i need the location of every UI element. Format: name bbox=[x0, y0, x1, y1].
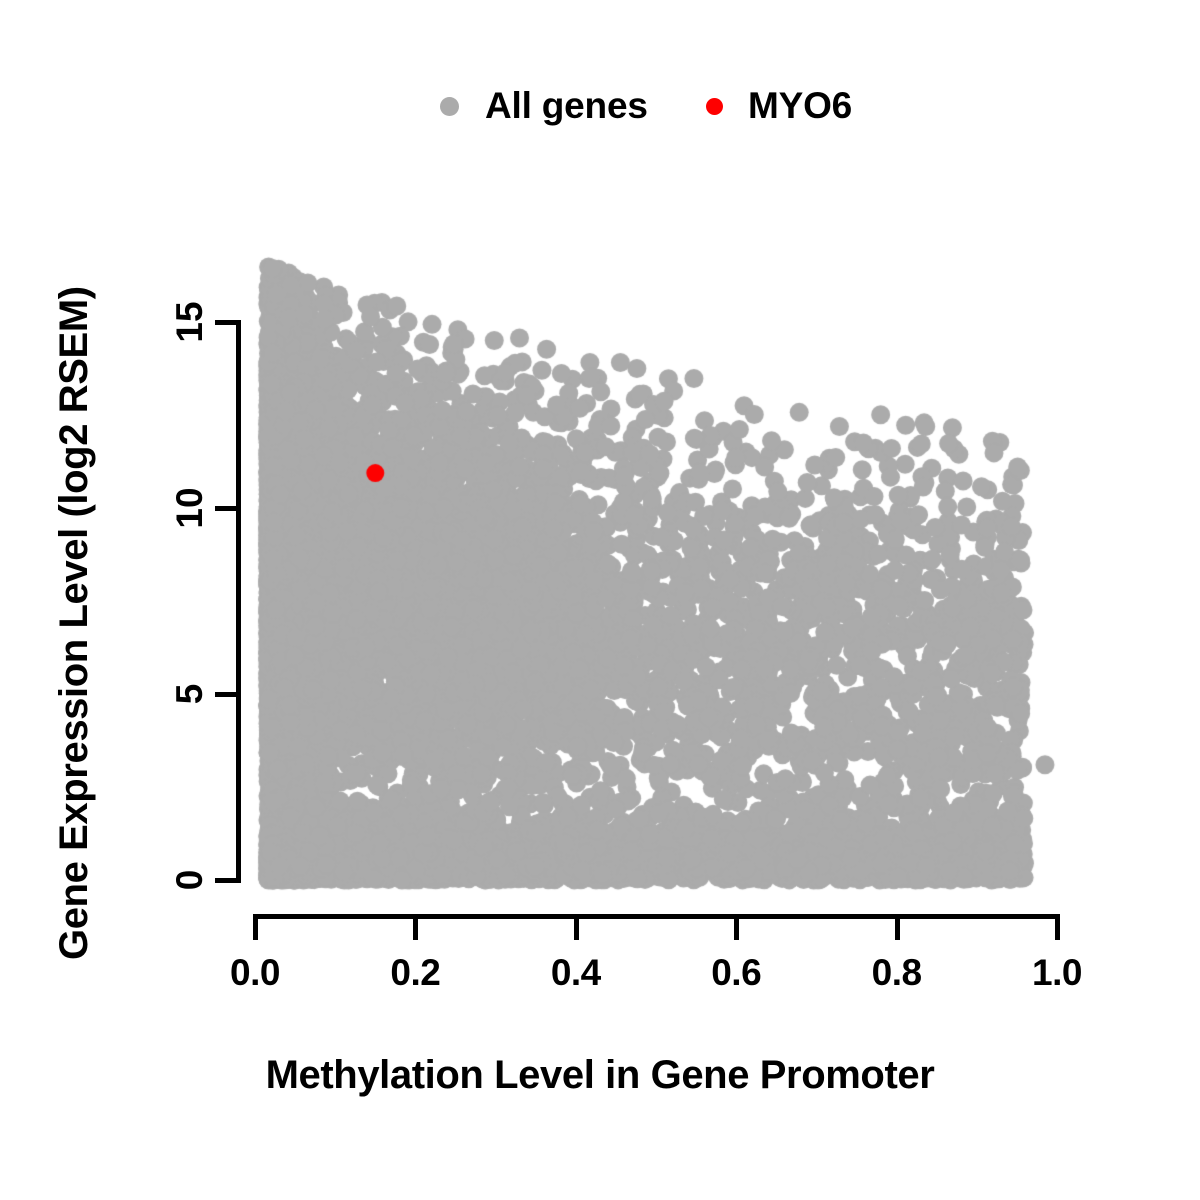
x-axis-tick-label: 0.0 bbox=[185, 952, 325, 994]
x-axis-tick bbox=[1055, 914, 1060, 940]
x-axis-tick-label: 1.0 bbox=[987, 952, 1127, 994]
scatter-plot-figure: All genes MYO6 0510150.00.20.40.60.81.0 … bbox=[0, 0, 1200, 1200]
x-axis-tick bbox=[413, 914, 418, 940]
x-axis-tick-label: 0.8 bbox=[827, 952, 967, 994]
y-axis-tick-label: 15 bbox=[169, 262, 211, 382]
x-axis-tick-label: 0.4 bbox=[506, 952, 646, 994]
y-axis-tick-label: 5 bbox=[169, 634, 211, 754]
x-axis-tick bbox=[574, 914, 579, 940]
y-axis-tick bbox=[215, 320, 241, 325]
x-axis-tick bbox=[253, 914, 258, 940]
x-axis-tick bbox=[734, 914, 739, 940]
x-axis-tick bbox=[895, 914, 900, 940]
y-axis-tick-label: 10 bbox=[169, 448, 211, 568]
x-axis-tick-label: 0.6 bbox=[666, 952, 806, 994]
y-axis-tick-label: 0 bbox=[169, 820, 211, 940]
plot-area bbox=[236, 230, 1076, 890]
x-axis-line bbox=[255, 914, 1058, 919]
y-axis-line bbox=[236, 322, 241, 881]
x-axis-title: Methylation Level in Gene Promoter bbox=[0, 1053, 1200, 1098]
y-axis-tick bbox=[215, 506, 241, 511]
x-axis-tick-label: 0.2 bbox=[345, 952, 485, 994]
y-axis-tick bbox=[215, 878, 241, 883]
scatter-points-layer bbox=[0, 0, 1200, 1200]
y-axis-tick bbox=[215, 692, 241, 697]
